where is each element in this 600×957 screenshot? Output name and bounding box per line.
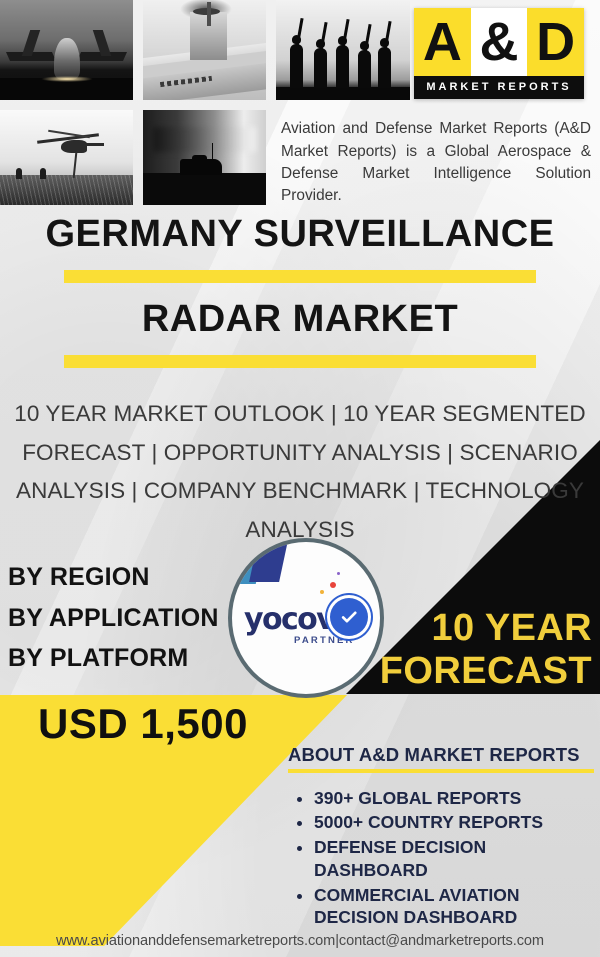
photo-fighter-jet: [0, 0, 133, 100]
about-bullet-defense-dashboard: DEFENSE DECISION DASHBOARD: [314, 836, 594, 882]
about-bullet-commercial-dashboard: COMMERCIAL AVIATION DECISION DASHBOARD: [314, 884, 594, 930]
poster-root: A & D MARKET REPORTS Aviation and Defens…: [0, 0, 600, 957]
logo-letter-a: A: [414, 8, 471, 76]
about-bullet-country-reports: 5000+ COUNTRY REPORTS: [314, 811, 594, 834]
page-title-line-2: RADAR MARKET: [0, 297, 600, 342]
forecast-badge: 10 YEAR FORECAST: [380, 607, 592, 693]
segmentation-item-region: BY REGION: [8, 557, 219, 598]
forecast-badge-line-1: 10 YEAR: [380, 607, 592, 650]
about-heading-underline: [288, 769, 594, 773]
segmentation-list: BY REGION BY APPLICATION BY PLATFORM: [8, 557, 219, 679]
yocova-sparkle-yellow-icon: [320, 590, 324, 594]
yocova-sparkle-red-icon: [330, 582, 336, 588]
company-intro-paragraph: Aviation and Defense Market Reports (A&D…: [281, 118, 591, 207]
report-features-text: 10 YEAR MARKET OUTLOOK | 10 YEAR SEGMENT…: [14, 395, 586, 550]
ad-market-reports-logo: A & D MARKET REPORTS: [414, 8, 584, 99]
segmentation-item-platform: BY PLATFORM: [8, 638, 219, 679]
yocova-sparkle-purple-icon: [337, 572, 340, 575]
footer-contact-bar: www.aviationanddefensemarketreports.com …: [0, 925, 600, 957]
page-title-line-1: GERMANY SURVEILLANCE: [0, 212, 600, 257]
report-title-block: GERMANY SURVEILLANCE RADAR MARKET: [0, 212, 600, 368]
about-bullet-global-reports: 390+ GLOBAL REPORTS: [314, 787, 594, 810]
price-label: USD 1,500: [38, 700, 248, 748]
footer-website[interactable]: www.aviationanddefensemarketreports.com: [56, 933, 335, 949]
forecast-badge-line-2: FORECAST: [380, 650, 592, 693]
about-heading: ABOUT A&D MARKET REPORTS: [288, 744, 594, 766]
title-divider-bottom: [64, 355, 536, 368]
yocova-partner-label: PARTNER: [294, 635, 355, 646]
logo-tagline: MARKET REPORTS: [414, 76, 584, 99]
photo-soldiers-silhouette: [276, 0, 410, 100]
photo-armored-vehicle: [143, 110, 266, 205]
logo-ampersand: &: [471, 8, 528, 76]
photo-helicopter: [0, 110, 133, 205]
check-icon: [330, 598, 368, 636]
segmentation-item-application: BY APPLICATION: [8, 598, 219, 639]
photo-aircraft-carrier: [143, 0, 266, 100]
about-section: ABOUT A&D MARKET REPORTS 390+ GLOBAL REP…: [288, 744, 594, 931]
yocova-partner-badge: yocova PARTNER: [228, 538, 384, 698]
about-bullet-list: 390+ GLOBAL REPORTS 5000+ COUNTRY REPORT…: [288, 787, 594, 930]
title-divider-top: [64, 270, 536, 283]
footer-email[interactable]: contact@andmarketreports.com: [339, 933, 544, 949]
logo-letter-d: D: [527, 8, 584, 76]
